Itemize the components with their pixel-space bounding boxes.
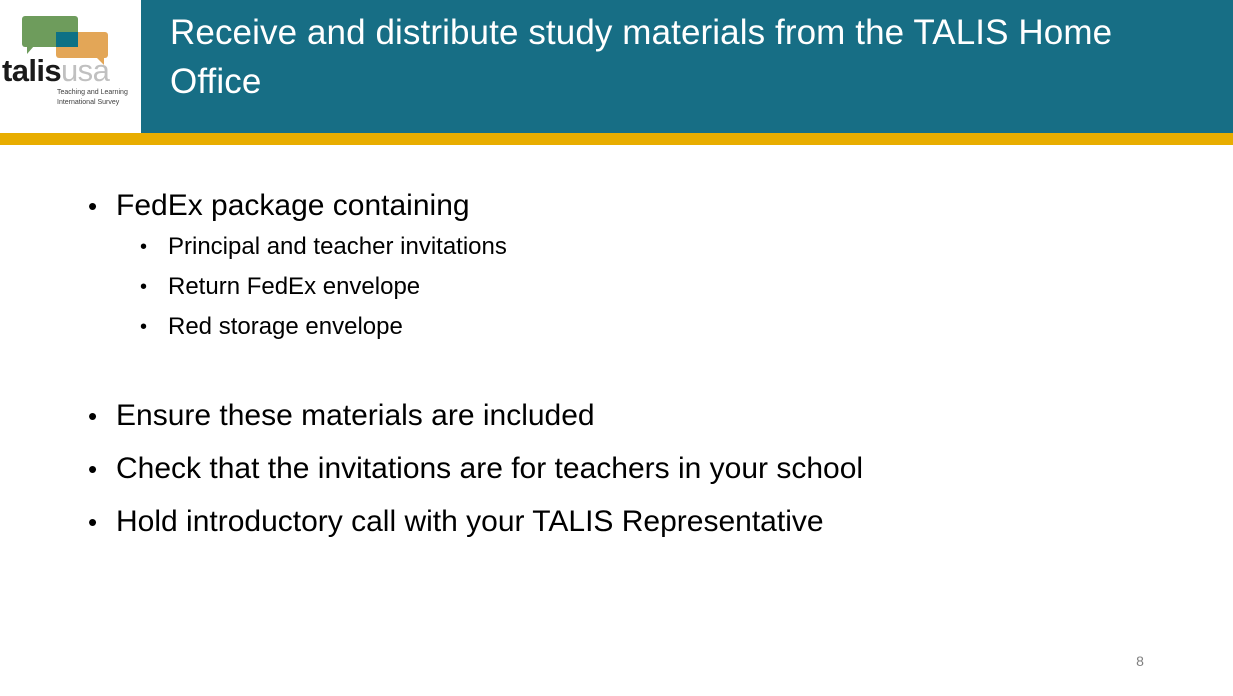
speech-bubble-overlap-icon (56, 32, 78, 47)
talis-usa-logo: talisusa Teaching and Learning Internati… (0, 0, 141, 133)
list-item-label: Check that the invitations are for teach… (116, 448, 1168, 490)
list-item-label: Return FedEx envelope (168, 267, 1168, 307)
bullet-dot-icon: • (88, 395, 97, 437)
bullet-list: • FedEx package containing • Principal a… (88, 185, 1168, 554)
bullet-dot-icon: • (88, 448, 97, 490)
list-item-label: Red storage envelope (168, 307, 1168, 347)
logo-wordmark-secondary: usa (61, 53, 109, 88)
header-teal-panel: Receive and distribute study materials f… (141, 0, 1233, 133)
slide-header: Receive and distribute study materials f… (0, 0, 1233, 133)
list-item: • Check that the invitations are for tea… (88, 448, 1168, 490)
list-item-label: Hold introductory call with your TALIS R… (116, 501, 1168, 543)
page-number: 8 (1120, 653, 1160, 669)
slide-body: • FedEx package containing • Principal a… (0, 145, 1233, 645)
list-spacer (88, 347, 1168, 395)
bullet-dot-icon: • (140, 307, 147, 347)
list-item: • Hold introductory call with your TALIS… (88, 501, 1168, 543)
logo-wordmark-primary: talis (2, 53, 61, 88)
list-item: • Ensure these materials are included (88, 395, 1168, 437)
list-item: • Return FedEx envelope (88, 267, 1168, 307)
slide: Receive and distribute study materials f… (0, 0, 1233, 696)
bullet-dot-icon: • (88, 501, 97, 543)
list-item-label: Principal and teacher invitations (168, 227, 1168, 267)
list-item-label: Ensure these materials are included (116, 395, 1168, 437)
list-item: • Principal and teacher invitations (88, 227, 1168, 267)
logo-tagline: Teaching and Learning International Surv… (57, 88, 137, 107)
gold-accent-bar (0, 133, 1233, 145)
logo-wordmark: talisusa (2, 57, 139, 85)
list-item: • FedEx package containing (88, 185, 1168, 227)
bullet-dot-icon: • (88, 185, 97, 227)
bullet-dot-icon: • (140, 227, 147, 267)
list-item-label: FedEx package containing (116, 185, 1168, 227)
page-title: Receive and distribute study materials f… (170, 8, 1205, 106)
bullet-dot-icon: • (140, 267, 147, 307)
list-item: • Red storage envelope (88, 307, 1168, 347)
